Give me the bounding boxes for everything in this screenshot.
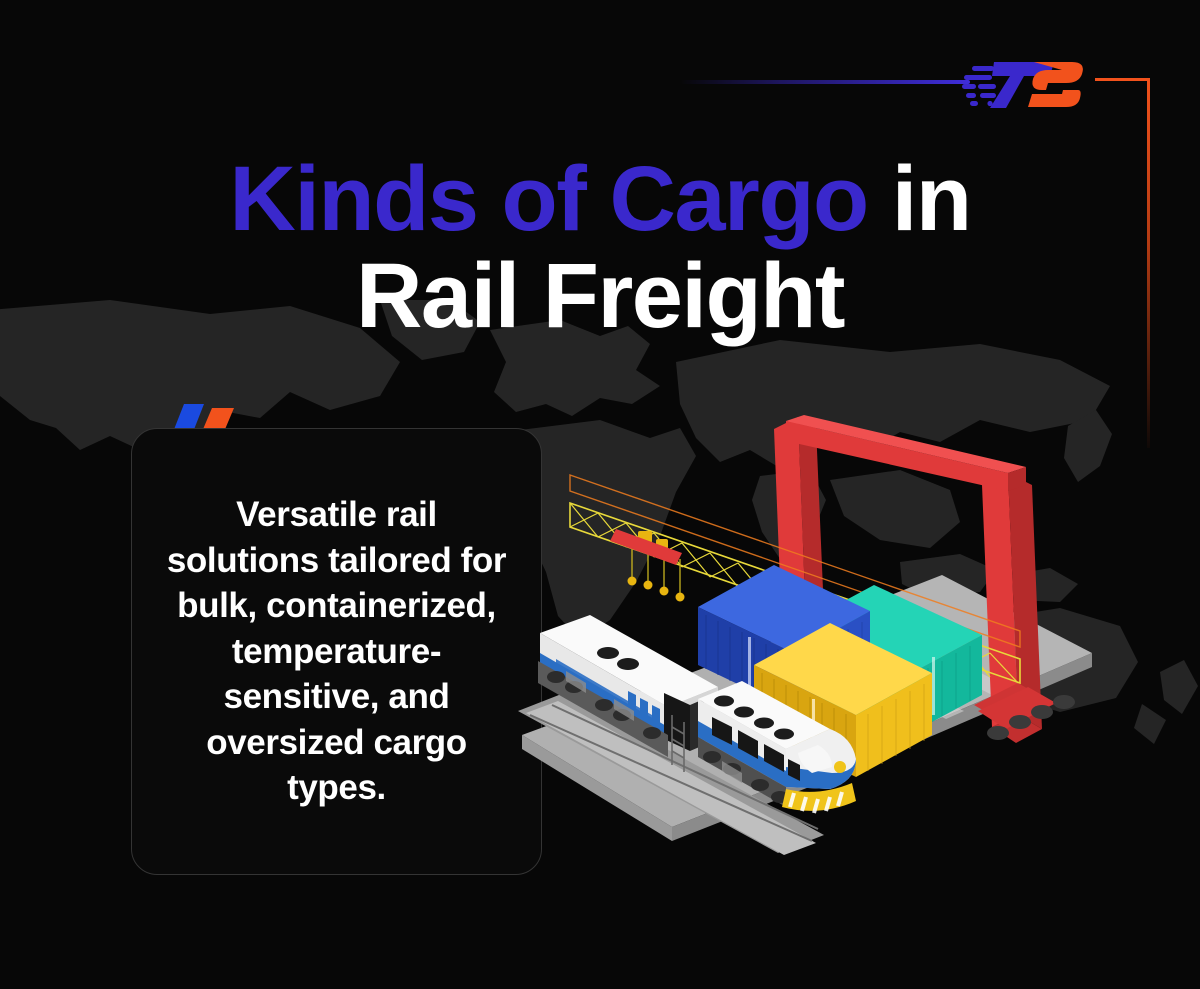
poster-canvas: Kinds of Cargo in Rail Freight Versatile… [0,0,1200,989]
headline-line-2: Rail Freight [0,252,1200,341]
headline-line-1-tail: in [868,148,971,250]
description-card: Versatile rail solutions tailored for bu… [131,428,542,875]
ts-logo[interactable] [962,52,1088,114]
orange-frame-horizontal [1095,78,1150,81]
blue-accent-rule [680,80,970,84]
description-text: Versatile rail solutions tailored for bu… [166,492,507,811]
headline-highlight: Kinds of Cargo [229,148,867,250]
page-title: Kinds of Cargo in Rail Freight [0,155,1200,341]
headline-line-1: Kinds of Cargo in [0,155,1200,244]
isometric-rail-freight-terminal [512,415,1092,915]
